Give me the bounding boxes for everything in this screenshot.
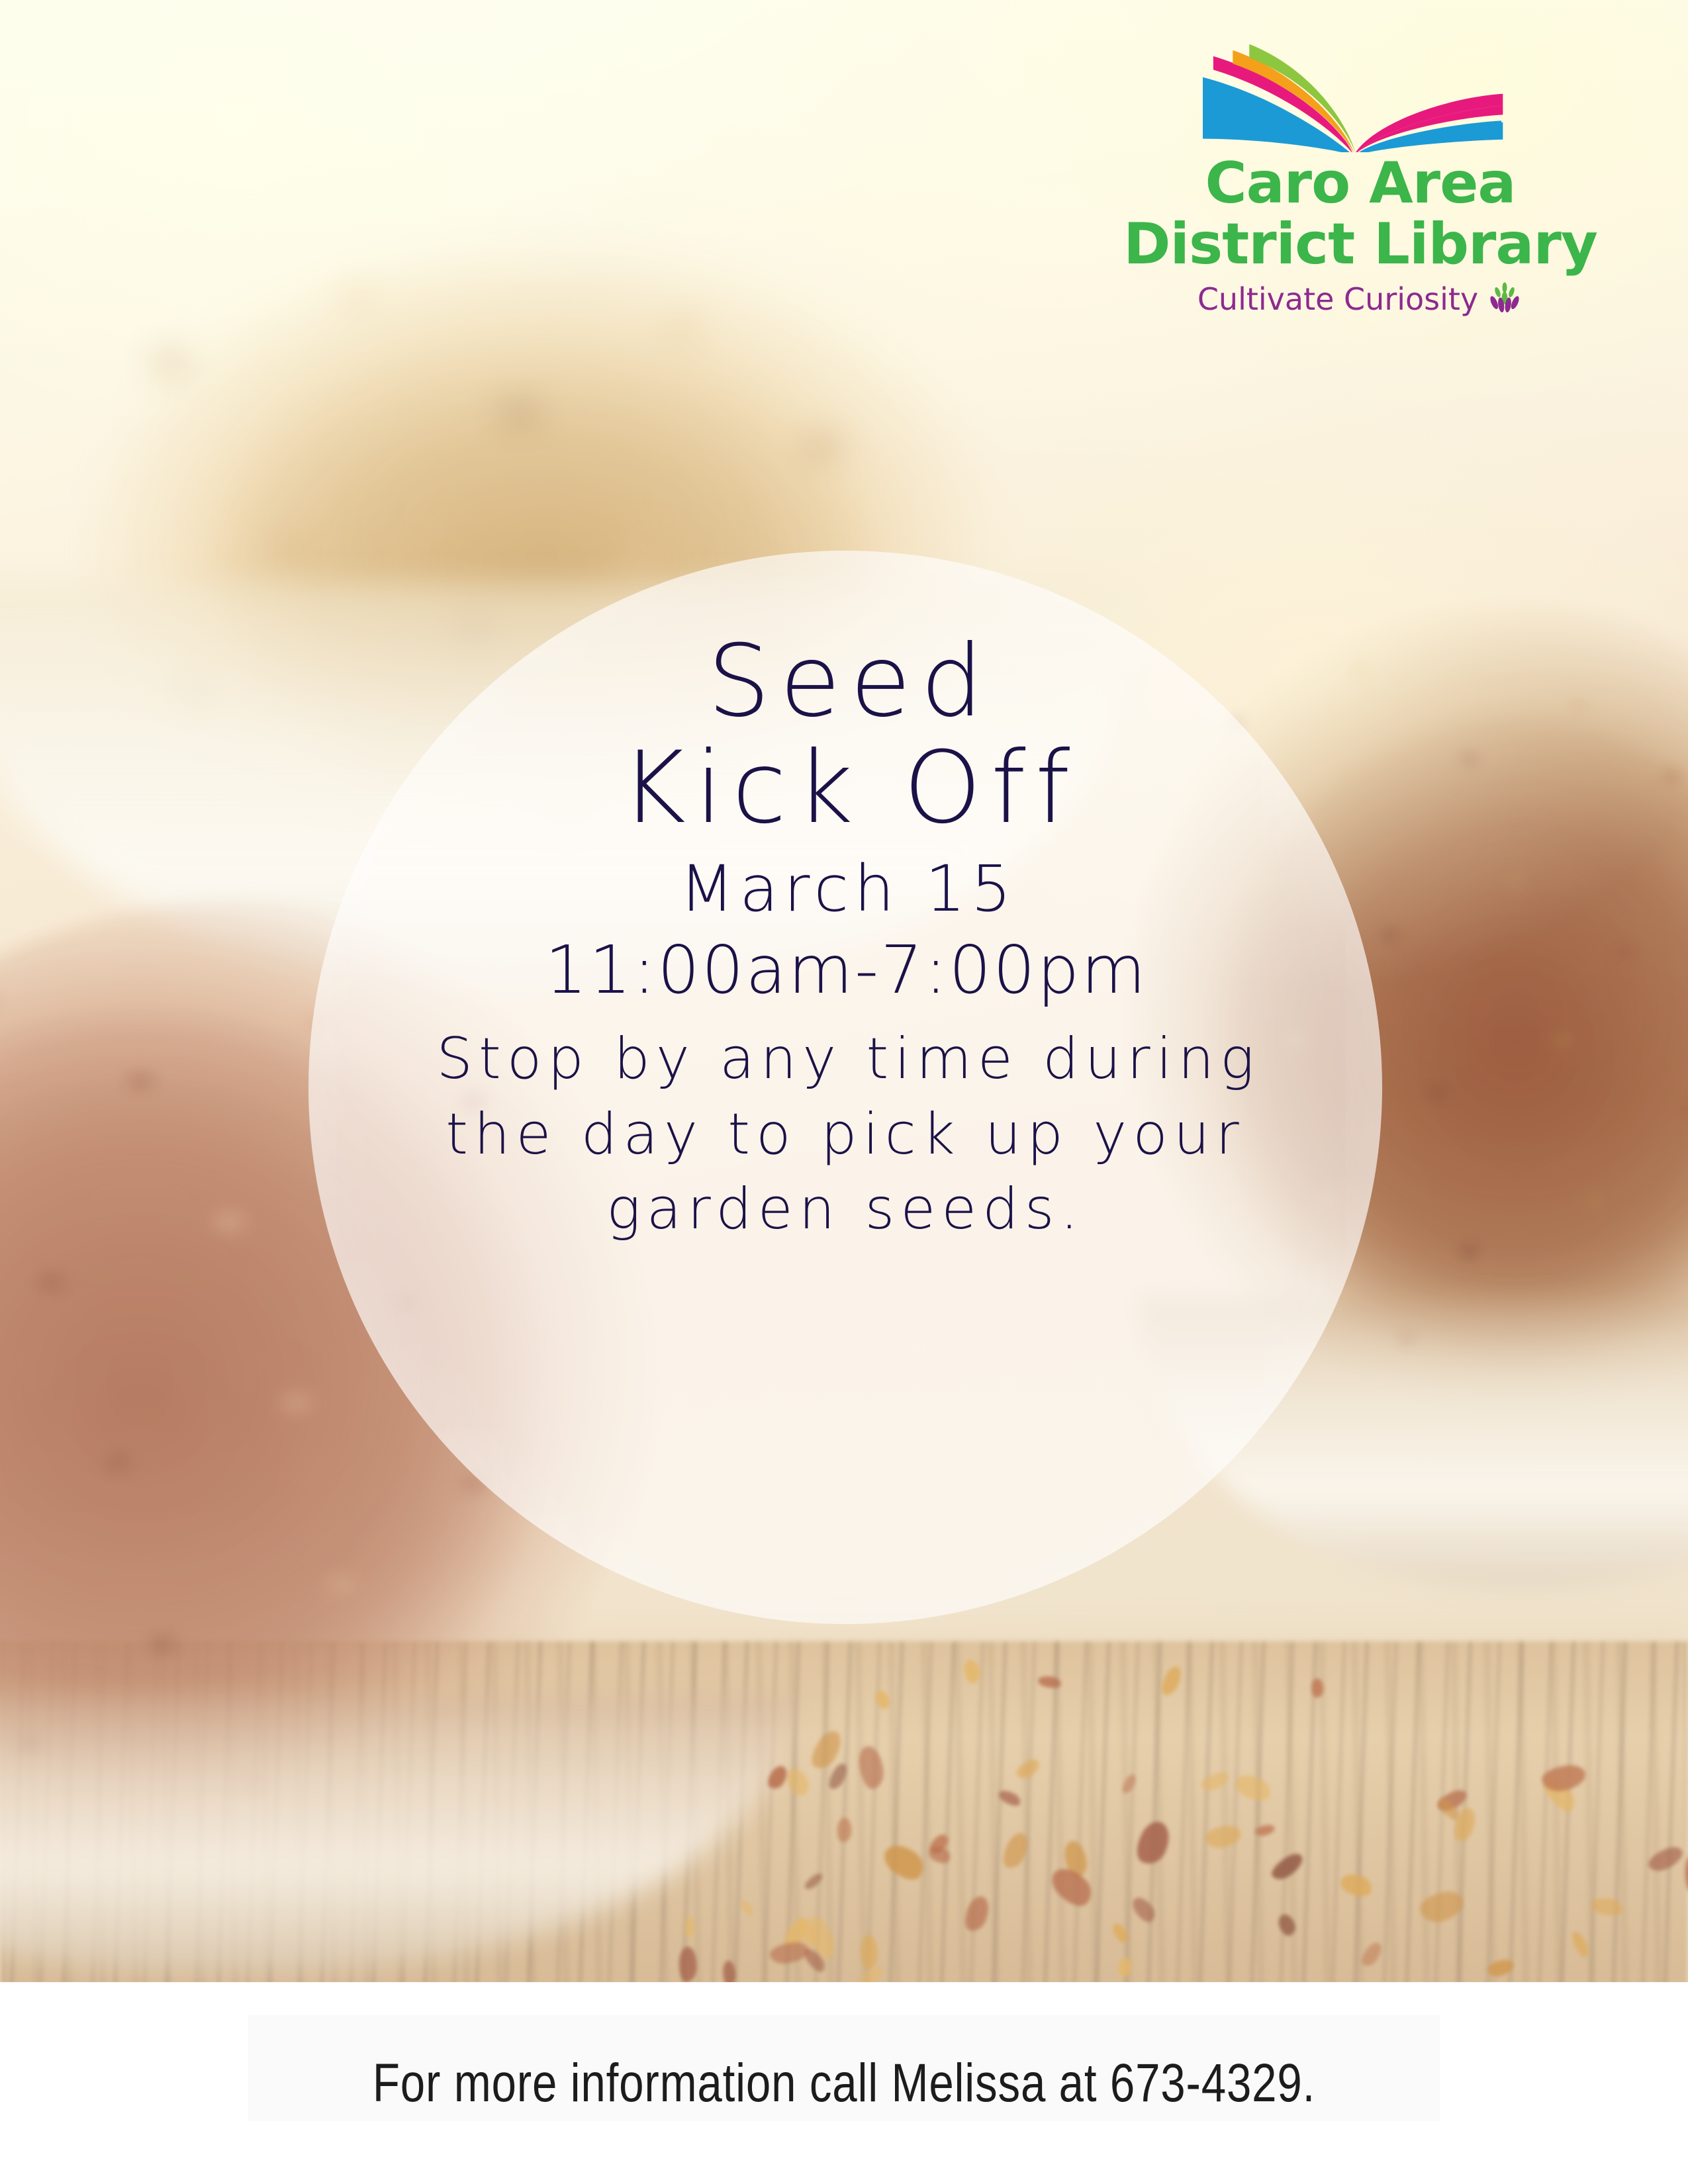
library-logo: Caro Area District Library Cultivate Cur… xyxy=(1119,40,1602,318)
event-title-line2: Kick Off xyxy=(308,735,1382,842)
event-date: March 15 xyxy=(308,850,1382,928)
flyer-poster: Seed Kick Off March 15 11:00am-7:00pm St… xyxy=(0,0,1688,2184)
event-description: Stop by any time during the day to pick … xyxy=(415,1022,1276,1248)
event-time: 11:00am-7:00pm xyxy=(308,931,1382,1010)
event-title-line1: Seed xyxy=(308,629,1382,735)
logo-line-1: Caro Area xyxy=(1119,155,1602,212)
footer-contact-text: For more information call Melissa at 673… xyxy=(152,1982,1536,2184)
logo-tagline-row: Cultivate Curiosity xyxy=(1119,281,1602,318)
open-book-rainbow-icon xyxy=(1119,40,1602,152)
logo-line-2: District Library xyxy=(1119,216,1602,273)
event-text-block: Seed Kick Off March 15 11:00am-7:00pm St… xyxy=(308,551,1382,1624)
logo-tagline: Cultivate Curiosity xyxy=(1197,281,1478,317)
sprout-icon xyxy=(1486,281,1523,318)
